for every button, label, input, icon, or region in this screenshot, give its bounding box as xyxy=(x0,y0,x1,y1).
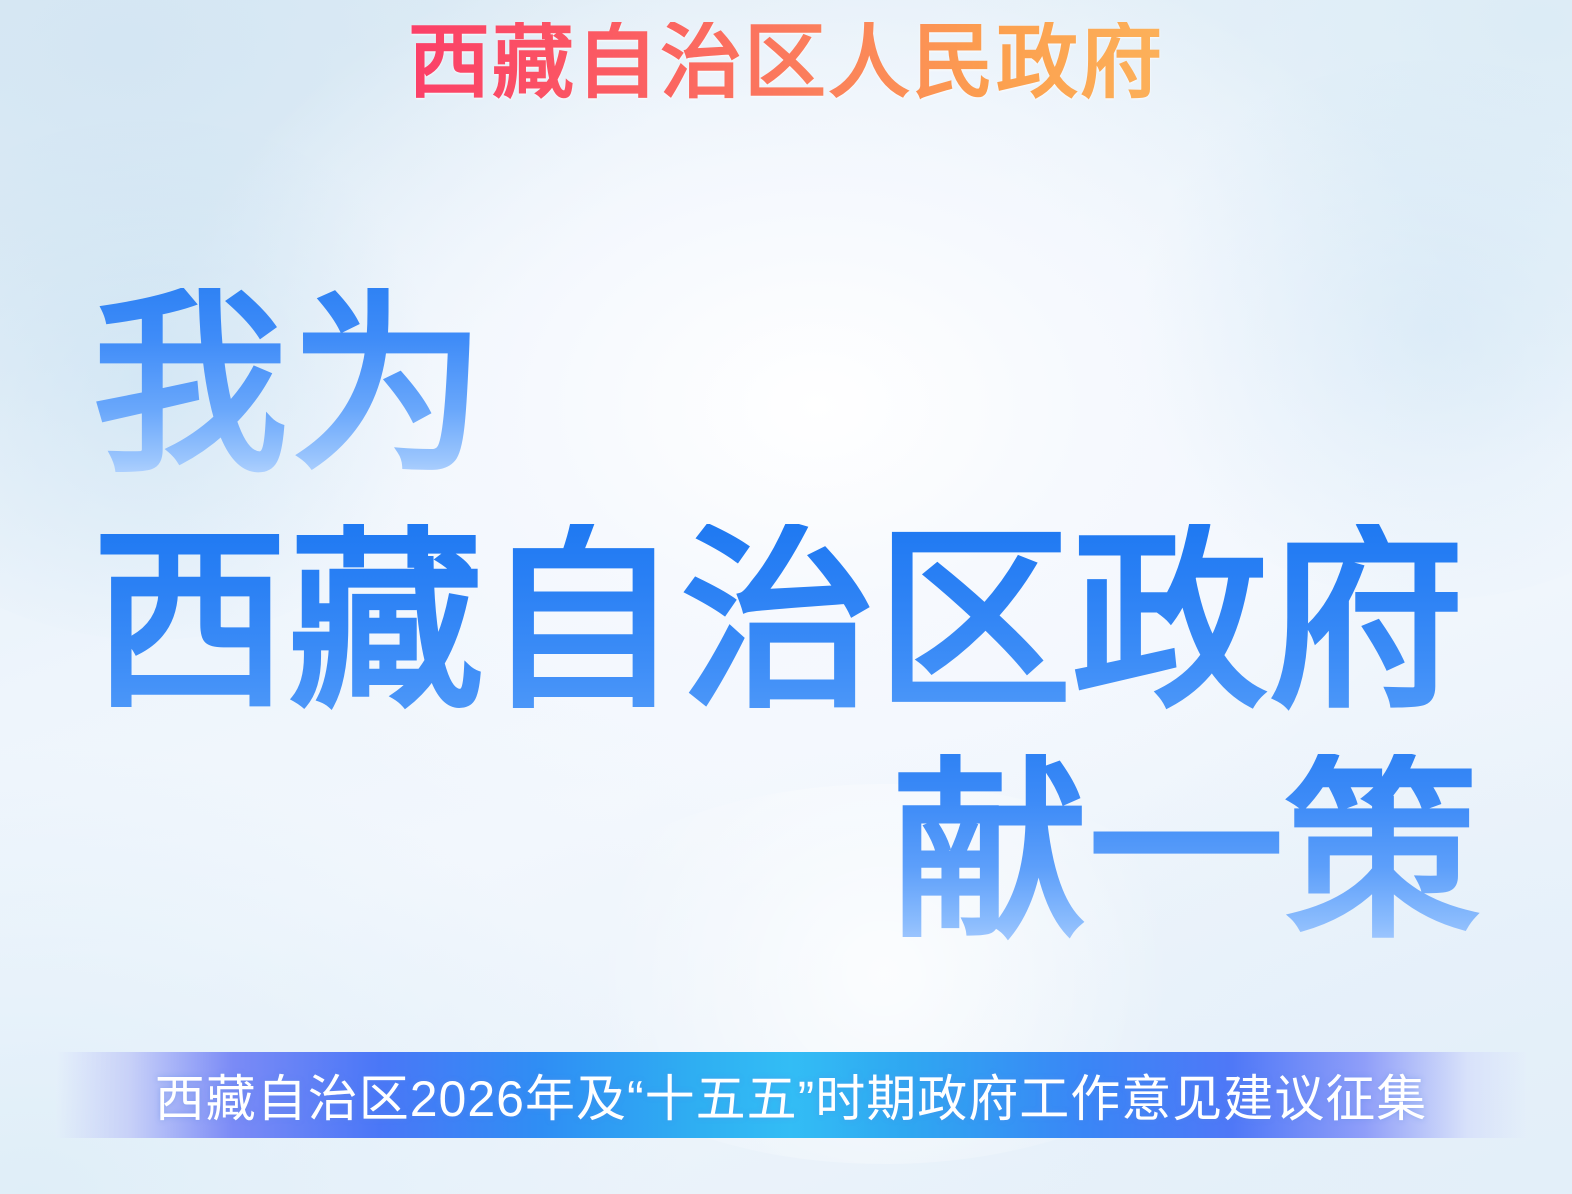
headline-line-3: 献一策 xyxy=(92,754,1480,950)
government-name-text: 西藏自治区人民政府 xyxy=(408,22,1164,104)
headline-line-1: 我为 xyxy=(92,288,1480,484)
headline-block: 我为 西藏自治区政府 献一策 xyxy=(92,288,1480,950)
government-header: 西藏自治区人民政府 xyxy=(0,22,1572,104)
poster-canvas: 西藏自治区人民政府 我为 西藏自治区政府 献一策 西藏自治区2026年及“十五五… xyxy=(0,0,1572,1194)
campaign-ribbon: 西藏自治区2026年及“十五五”时期政府工作意见建议征集 xyxy=(56,1052,1526,1138)
headline-line-2: 西藏自治区政府 xyxy=(92,524,1480,720)
campaign-ribbon-text: 西藏自治区2026年及“十五五”时期政府工作意见建议征集 xyxy=(155,1059,1428,1131)
